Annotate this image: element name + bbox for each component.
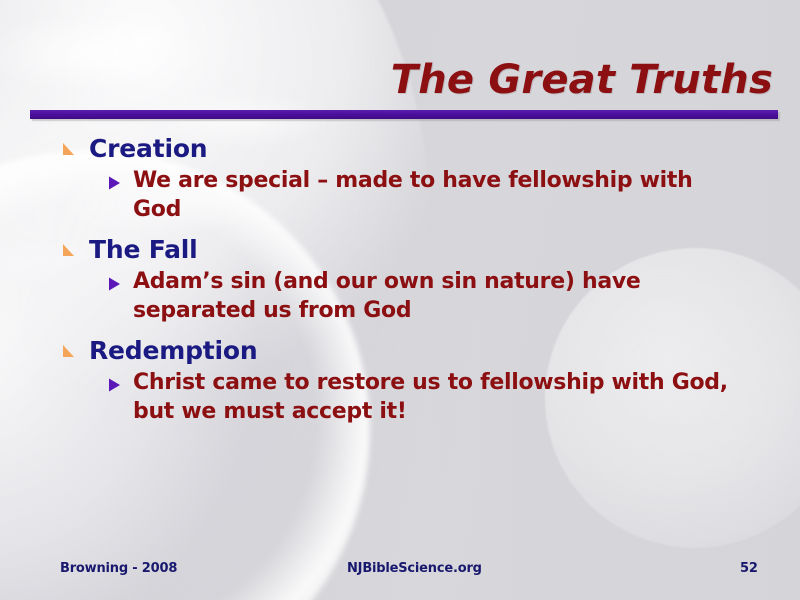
bullet-group: Redemption Christ came to restore us to … <box>62 335 772 426</box>
bullet-group: The Fall Adam’s sin (and our own sin nat… <box>62 234 772 325</box>
level2-bullet-text: Adam’s sin (and our own sin nature) have… <box>133 268 743 325</box>
orange-corner-triangle-icon <box>62 244 75 257</box>
footer-author: Browning - 2008 <box>60 561 177 576</box>
level2-bullet-creation: We are special – made to have fellowship… <box>108 167 772 224</box>
level1-bullet-the-fall: The Fall <box>62 234 772 266</box>
footer-website: NJBibleScience.org <box>347 561 482 576</box>
orange-corner-triangle-icon <box>62 345 75 358</box>
level2-bullet-text: Christ came to restore us to fellowship … <box>133 369 743 426</box>
level1-bullet-creation: Creation <box>62 133 772 165</box>
slide-title: The Great Truths <box>391 57 773 103</box>
level2-bullet-text: We are special – made to have fellowship… <box>133 167 743 224</box>
level1-bullet-text: Redemption <box>89 335 258 367</box>
bullet-group: Creation We are special – made to have f… <box>62 133 772 224</box>
slide-footer: Browning - 2008 NJBibleScience.org 52 <box>0 561 800 585</box>
level2-bullet-redemption: Christ came to restore us to fellowship … <box>108 369 772 426</box>
presentation-slide: The Great Truths Creation We are special <box>0 0 800 600</box>
level1-bullet-redemption: Redemption <box>62 335 772 367</box>
level1-bullet-text: Creation <box>89 133 207 165</box>
purple-play-triangle-icon <box>108 277 121 291</box>
title-underline-rule <box>30 110 778 119</box>
purple-play-triangle-icon <box>108 176 121 190</box>
slide-number: 52 <box>740 561 758 576</box>
purple-play-triangle-icon <box>108 378 121 392</box>
slide-body: Creation We are special – made to have f… <box>62 133 772 437</box>
level2-bullet-the-fall: Adam’s sin (and our own sin nature) have… <box>108 268 772 325</box>
orange-corner-triangle-icon <box>62 143 75 156</box>
level1-bullet-text: The Fall <box>89 234 198 266</box>
